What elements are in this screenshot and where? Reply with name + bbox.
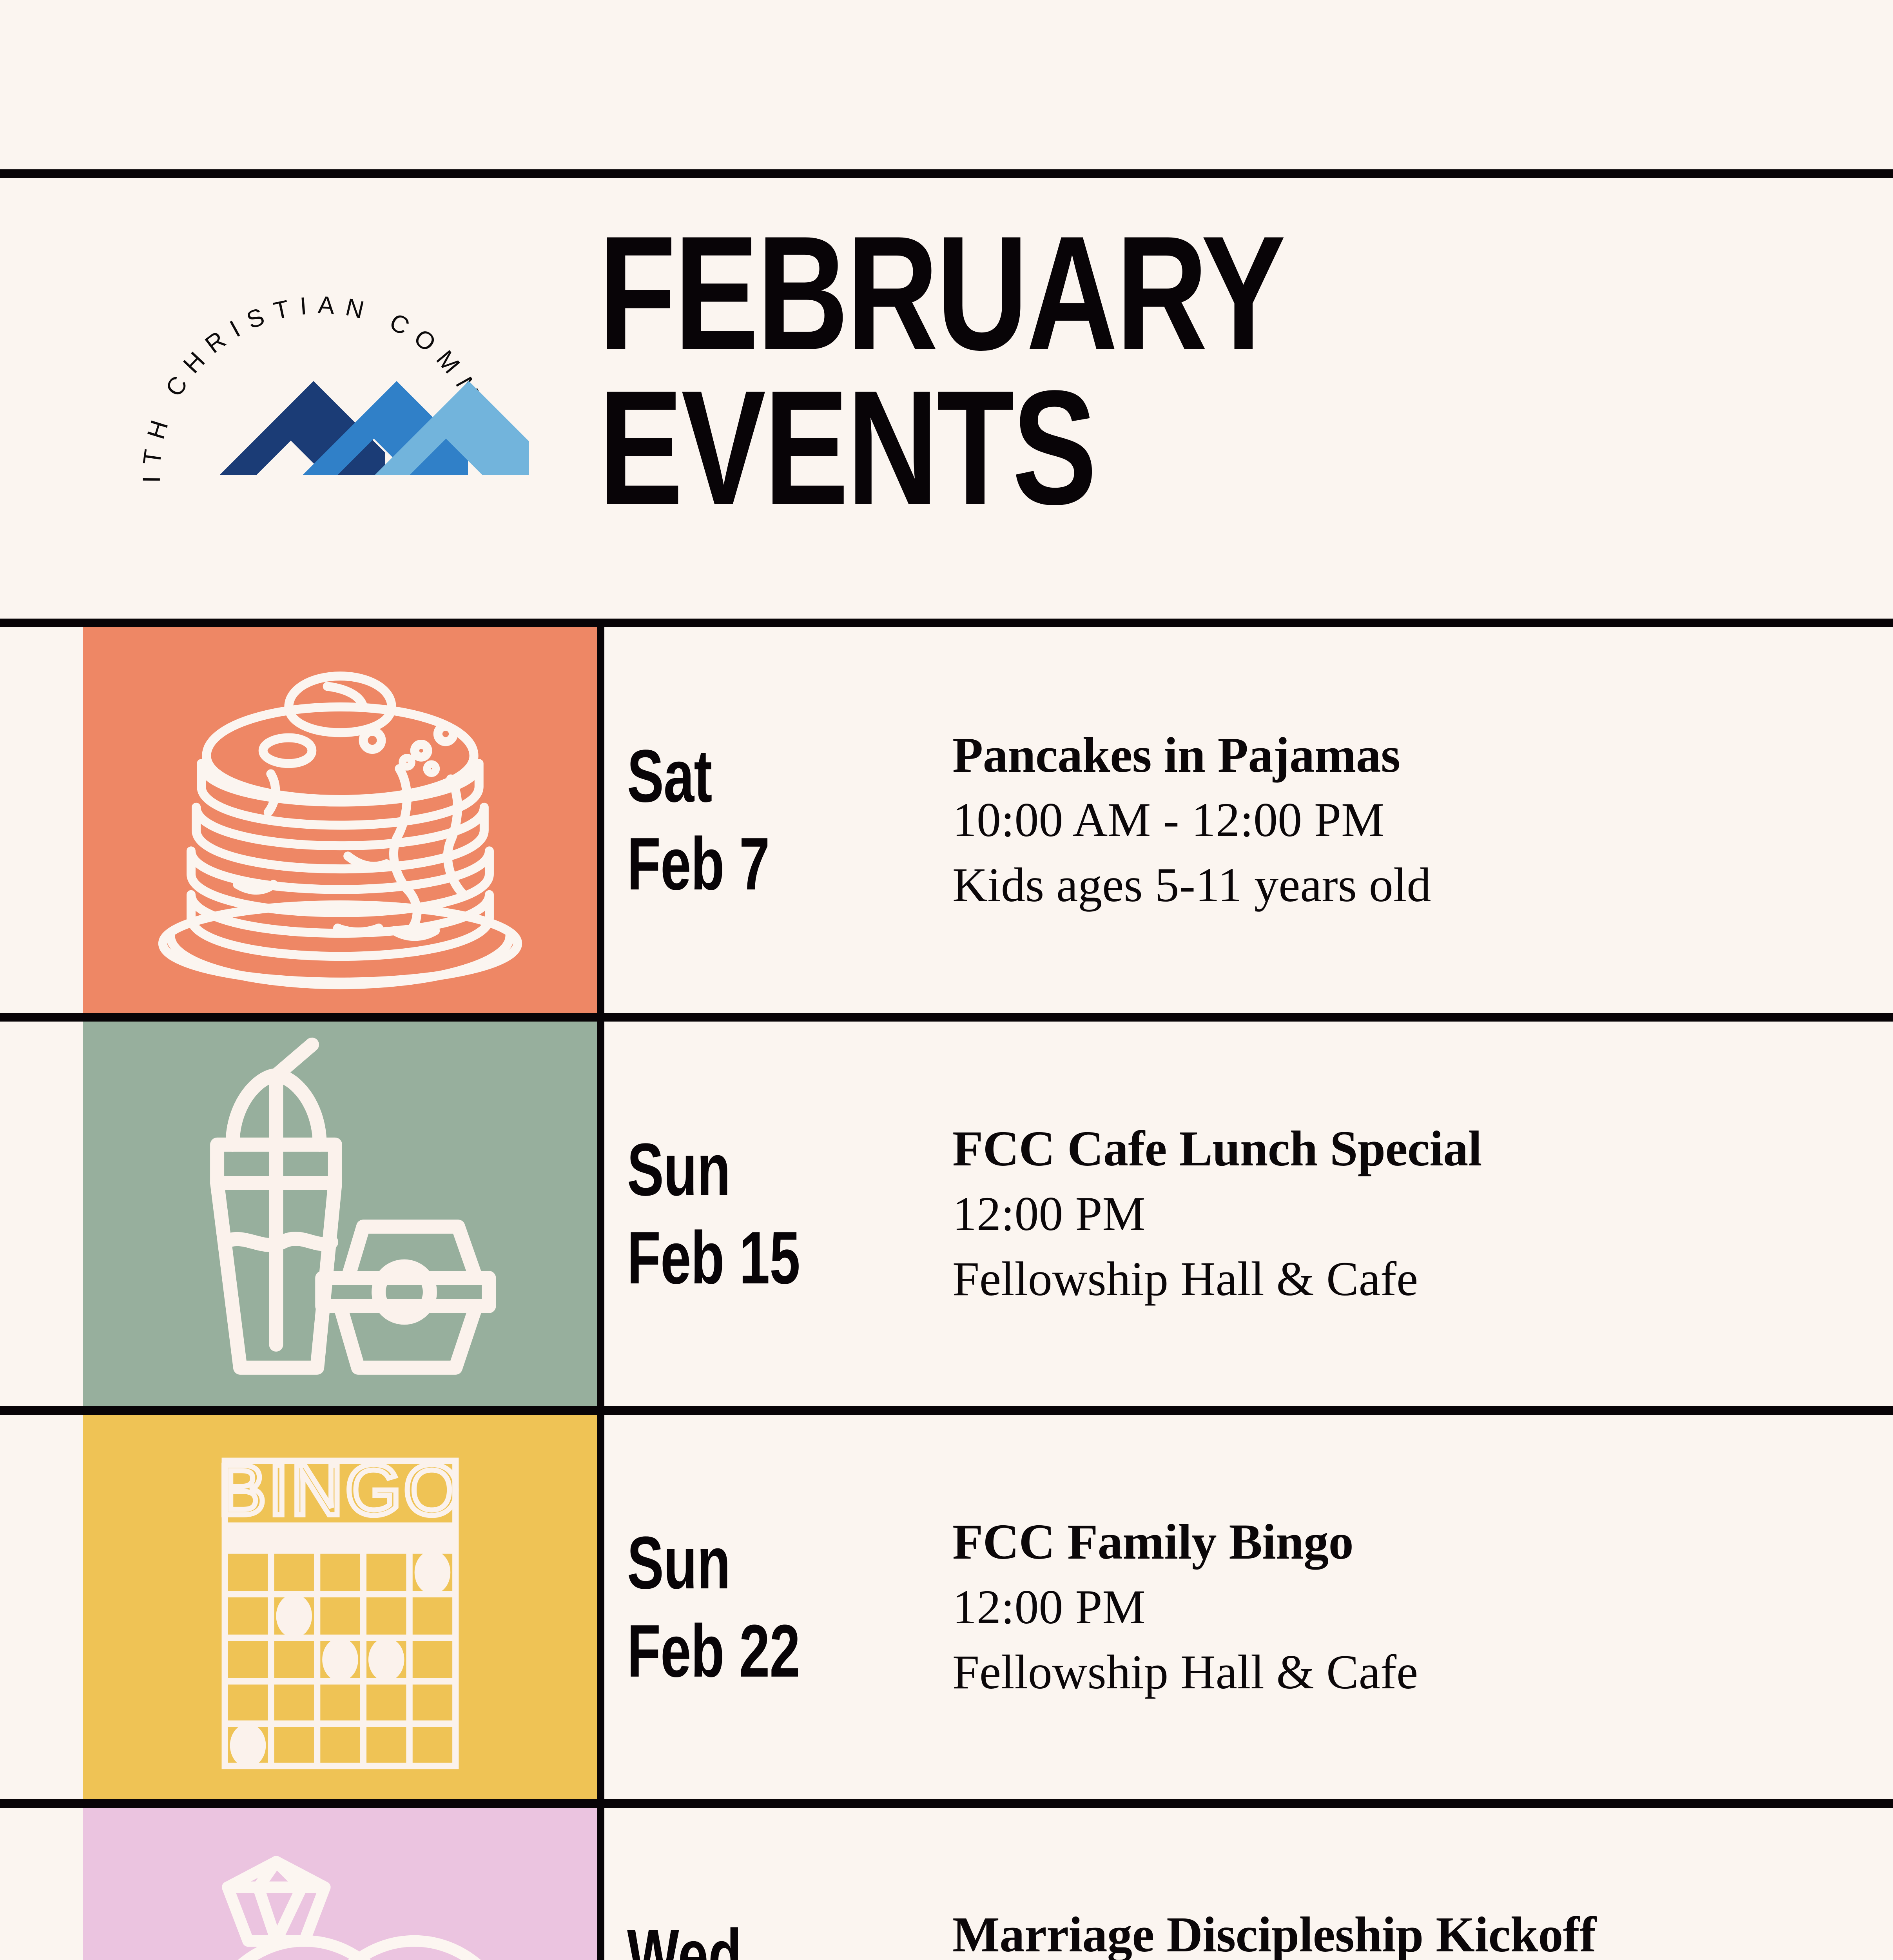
event-location: Fellowship Hall & Cafe: [952, 1640, 1854, 1705]
event-row: Sat Feb 7 Pancakes in Pajamas 10:00 AM -…: [0, 627, 1893, 1013]
wedding-rings-icon: [83, 1808, 597, 1960]
event-date: Feb 7: [627, 820, 824, 908]
event-title: FCC Family Bingo: [952, 1509, 1854, 1574]
event-title: FCC Cafe Lunch Special: [952, 1116, 1854, 1181]
event-location: Kids ages 5-11 years old: [952, 853, 1854, 918]
bingo-label: BINGO: [218, 1450, 462, 1530]
event-row: BINGO: [0, 1415, 1893, 1799]
february-events-poster: FAITH CHRISTIAN COMMUNITY FEBRUARY EVENT…: [0, 0, 1893, 1960]
event-time: 10:00 AM - 12:00 PM: [952, 788, 1854, 853]
event-location: Fellowship Hall & Cafe: [952, 1247, 1854, 1312]
event-time: 12:00 PM: [952, 1181, 1854, 1247]
date-column: Wed Feb 25: [627, 1808, 894, 1960]
event-weekday: Wed: [627, 1912, 824, 1960]
event-title: Marriage Discipleship Kickoff: [952, 1902, 1854, 1960]
title-block: FEBRUARY EVENTS: [598, 216, 1813, 525]
divider-row-1: [0, 619, 1893, 627]
date-column: Sat Feb 7: [627, 627, 894, 1013]
bingo-card-icon: BINGO: [83, 1415, 597, 1799]
event-row: Sun Feb 15 FCC Cafe Lunch Special 12:00 …: [0, 1022, 1893, 1406]
divider-row-2: [0, 1013, 1893, 1022]
date-column: Sun Feb 15: [627, 1022, 894, 1406]
event-weekday: Sat: [627, 732, 824, 820]
event-details: FCC Family Bingo 12:00 PM Fellowship Hal…: [952, 1415, 1854, 1799]
event-date: Feb 22: [627, 1607, 824, 1695]
mountain-peaks-icon: [219, 381, 529, 475]
event-weekday: Sun: [627, 1519, 824, 1607]
drink-and-takeout-box-icon: [83, 1022, 597, 1406]
event-title: Pancakes in Pajamas: [952, 722, 1854, 788]
page-title: FEBRUARY EVENTS: [598, 216, 1546, 525]
poster-header: FAITH CHRISTIAN COMMUNITY FEBRUARY EVENT…: [0, 169, 1893, 619]
logo: FAITH CHRISTIAN COMMUNITY: [114, 240, 529, 546]
event-time: 12:00 PM: [952, 1575, 1854, 1640]
divider-row-4: [0, 1799, 1893, 1808]
event-weekday: Sun: [627, 1126, 824, 1214]
date-column: Sun Feb 22: [627, 1415, 894, 1799]
event-details: FCC Cafe Lunch Special 12:00 PM Fellowsh…: [952, 1022, 1854, 1406]
event-row: Wed Feb 25 Marriage Discipleship Kickoff…: [0, 1808, 1893, 1960]
pancake-stack-icon: [83, 627, 597, 1013]
divider-row-3: [0, 1406, 1893, 1415]
event-details: Pancakes in Pajamas 10:00 AM - 12:00 PM …: [952, 627, 1854, 1013]
event-details: Marriage Discipleship Kickoff 6:30 PM Au…: [952, 1808, 1854, 1960]
event-date: Feb 15: [627, 1214, 824, 1302]
